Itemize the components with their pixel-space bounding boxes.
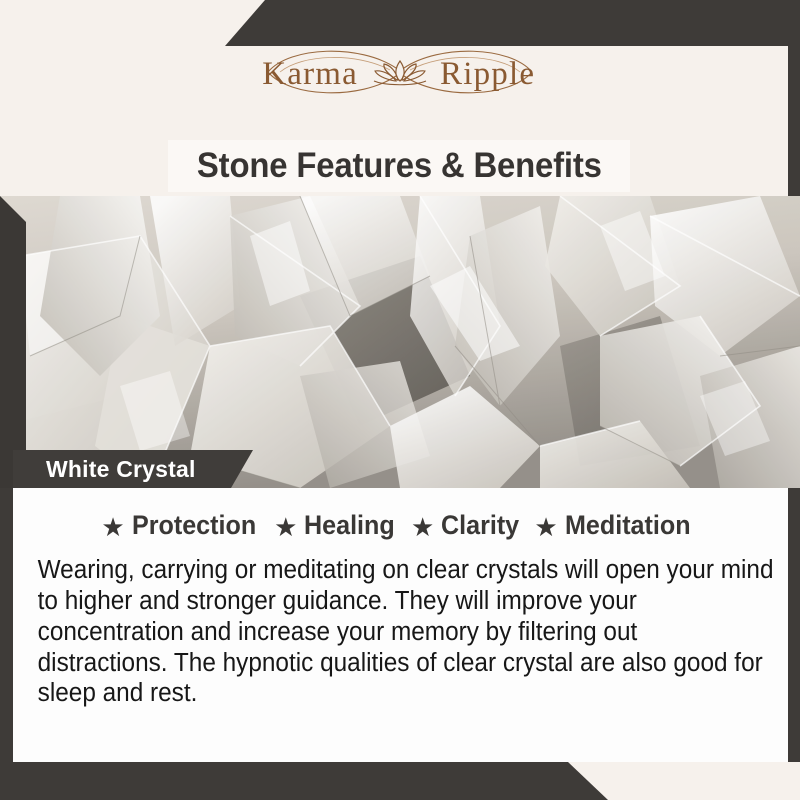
star-icon: ★ [101,514,124,540]
star-icon: ★ [411,514,434,540]
benefit-item-clarity: ★ Clarity [411,510,525,541]
benefit-label: Protection [132,510,256,541]
brand-name-left: Karma [262,56,358,92]
description-text: Wearing, carrying or meditating on clear… [30,555,780,709]
star-icon: ★ [534,514,557,540]
star-icon: ★ [274,514,297,540]
content-panel: ★ Protection ★ Healing ★ Clarity ★ Medit… [13,488,788,762]
benefits-row: ★ Protection ★ Healing ★ Clarity ★ Medit… [30,510,771,541]
page-title: Stone Features & Benefits [197,146,602,186]
benefit-item-healing: ★ Healing [274,510,402,541]
title-plate: Stone Features & Benefits [168,140,630,192]
photo-left-wedge-decoration [0,196,26,488]
lotus-icon [374,61,426,85]
stone-name-label: White Crystal [13,456,196,483]
benefit-item-meditation: ★ Meditation [534,510,699,541]
crystal-photo-graphic [0,196,800,488]
stone-name-banner: White Crystal [13,450,253,488]
brand-name-right: Ripple [440,56,535,92]
benefit-label: Clarity [441,510,519,541]
corner-decoration-bottom-left [0,762,608,800]
karma-ripple-logomark: Karma Ripple [250,38,550,106]
stone-info-poster: Karma Ripple Stone Features & Benefits [0,0,800,800]
benefit-item-protection: ★ Protection [101,510,265,541]
benefit-label: Healing [304,510,395,541]
crystal-photo [0,196,800,488]
benefit-label: Meditation [565,510,691,541]
brand-logo: Karma Ripple [0,38,800,108]
